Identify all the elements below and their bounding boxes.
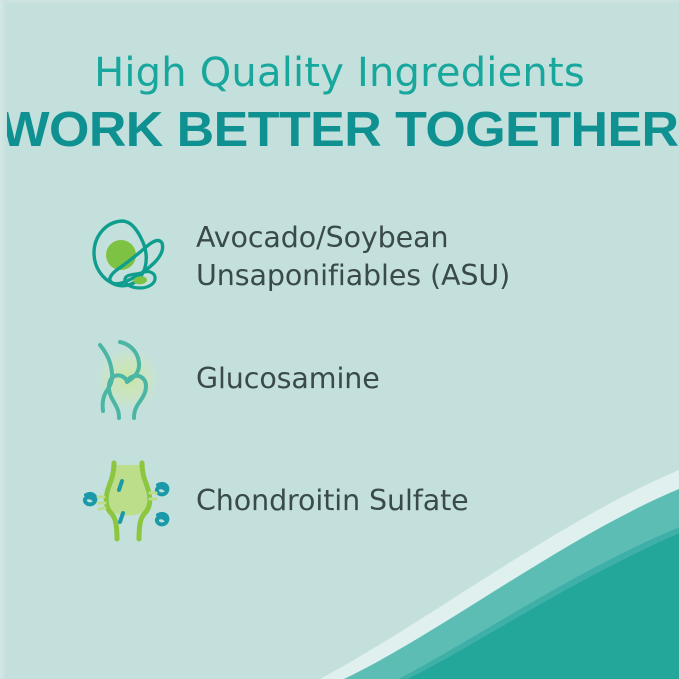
- label-line-2: Unsaponifiables (ASU): [196, 257, 510, 295]
- knee-joint-icon: [76, 327, 180, 431]
- list-item-label: Avocado/Soybean Unsaponifiables (ASU): [196, 219, 510, 295]
- frame-top-edge: [0, 0, 679, 4]
- label-line-1: Chondroitin Sulfate: [196, 482, 469, 520]
- list-item: Avocado/Soybean Unsaponifiables (ASU): [76, 205, 636, 309]
- label-line-1: Glucosamine: [196, 360, 380, 398]
- joint-molecules-icon: [76, 449, 180, 553]
- frame-left-edge: [0, 0, 7, 679]
- list-item-label: Glucosamine: [196, 360, 380, 398]
- label-line-1: Avocado/Soybean: [196, 219, 510, 257]
- avocado-soybean-icon: [76, 205, 180, 309]
- page-title-bold: WORK BETTER TOGETHER: [0, 103, 679, 158]
- heading-block: High Quality Ingredients WORK BETTER TOG…: [0, 52, 679, 158]
- wave-main-fill: [407, 533, 679, 679]
- list-item-label: Chondroitin Sulfate: [196, 482, 469, 520]
- page-title-light: High Quality Ingredients: [0, 52, 679, 94]
- list-item: Glucosamine: [76, 327, 636, 431]
- poster-canvas: High Quality Ingredients WORK BETTER TOG…: [0, 0, 679, 679]
- ingredient-list: Avocado/Soybean Unsaponifiables (ASU): [76, 205, 636, 553]
- list-item: Chondroitin Sulfate: [76, 449, 636, 553]
